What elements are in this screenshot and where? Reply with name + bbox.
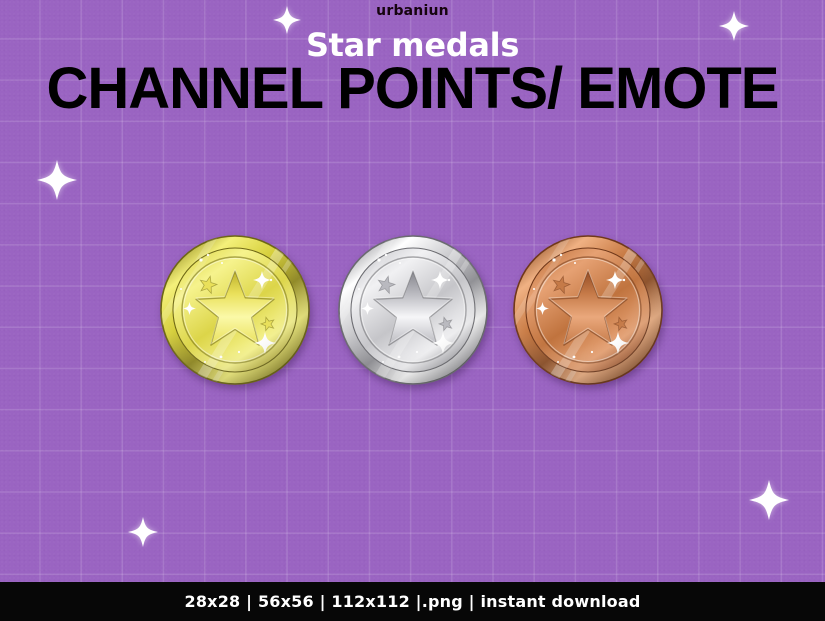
- footer-spec-text: 28x28 | 56x56 | 112x112 |.png | instant …: [185, 592, 641, 611]
- silver-star-medal[interactable]: [337, 234, 489, 386]
- bronze-star-medal[interactable]: [512, 234, 664, 386]
- gold-star-medal[interactable]: [159, 234, 311, 386]
- brand-name: urbaniun: [0, 3, 825, 19]
- poster-canvas: urbaniun Star medals CHANNEL POINTS/ EMO…: [0, 0, 825, 621]
- page-title: CHANNEL POINTS/ EMOTE: [0, 59, 825, 120]
- footer-bar: 28x28 | 56x56 | 112x112 |.png | instant …: [0, 582, 825, 621]
